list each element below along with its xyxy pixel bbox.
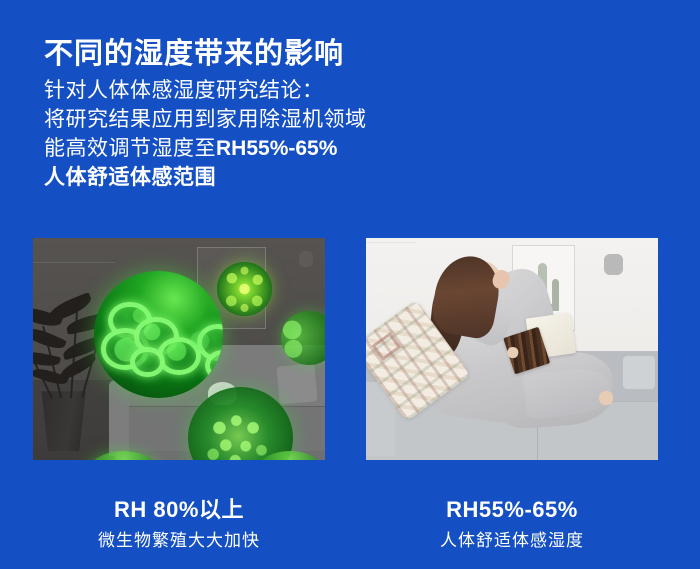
microbe-bottom-icon (188, 387, 293, 460)
microbe-medium-icon (217, 262, 272, 315)
caption-title: RH 80%以上 (33, 495, 325, 525)
dark-room-scene (33, 238, 325, 460)
bright-room-scene (366, 238, 658, 460)
body-line-3: 能高效调节湿度至RH55%-65% (44, 134, 367, 163)
humidity-infographic-poster: 不同的湿度带来的影响 针对人体体感湿度研究结论： 将研究结果应用到家用除湿机领域… (0, 0, 700, 569)
plant-pot (36, 391, 91, 451)
caption-title: RH55%-65% (366, 495, 658, 525)
photo-comfort-humidity (366, 238, 658, 460)
body-line-3-highlight: RH55%-65% (216, 137, 337, 160)
caption-subtitle: 人体舒适体感湿度 (366, 527, 658, 555)
body-line-4: 人体舒适体感范围 (44, 163, 367, 192)
wall-seam (366, 242, 416, 243)
body-line-3-prefix: 能高效调节湿度至 (44, 137, 216, 160)
caption-subtitle: 微生物繁殖大大加快 (33, 527, 325, 555)
photo-high-humidity (33, 238, 325, 460)
microbe-cluster-large-icon (94, 271, 222, 398)
wall-switch-icon (299, 251, 313, 267)
sofa-cushion (623, 356, 655, 389)
body-line-2: 将研究结果应用到家用除湿机领域 (44, 105, 367, 134)
microbe-edge-icon (281, 311, 325, 364)
caption-high-humidity: RH 80%以上 微生物繁殖大大加快 (33, 495, 325, 555)
body-copy: 针对人体体感湿度研究结论： 将研究结果应用到家用除湿机领域 能高效调节湿度至RH… (44, 76, 367, 192)
caption-comfort-humidity: RH55%-65% 人体舒适体感湿度 (366, 495, 658, 555)
body-line-1: 针对人体体感湿度研究结论： (44, 76, 367, 105)
wall-seam (33, 262, 115, 263)
page-title: 不同的湿度带来的影响 (44, 36, 344, 72)
